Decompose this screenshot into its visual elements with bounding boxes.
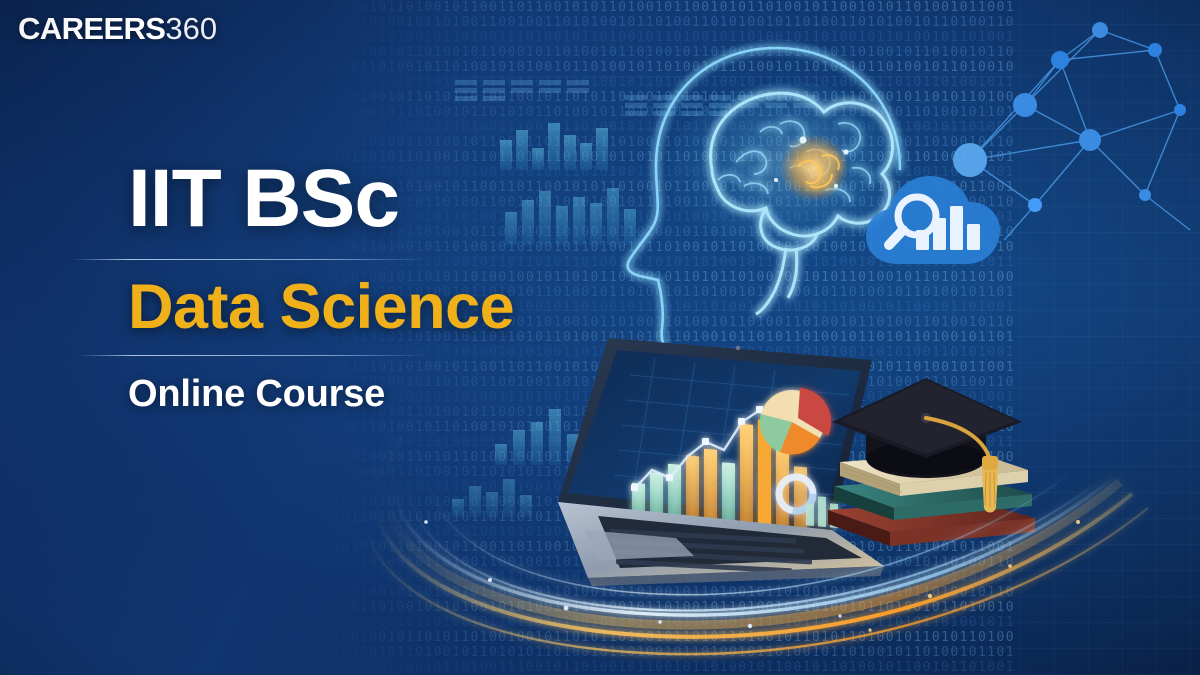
divider-bottom (78, 355, 426, 356)
light-streak-arcs (330, 390, 1160, 675)
logo-careers-text: CAREERS (18, 11, 165, 46)
headline-block: IIT BSc Data Science Online Course (128, 158, 568, 413)
cloud-analytics-icon (862, 168, 1022, 288)
background-data-table (455, 80, 605, 101)
headline-line-3: Online Course (128, 375, 568, 413)
careers360-logo[interactable]: CAREERS360 (18, 13, 217, 44)
logo-360-text: 360 (165, 11, 217, 46)
promo-banner: 1011001010110100101100101011010010110010… (0, 0, 1200, 675)
headline-line-2: Data Science (128, 276, 568, 339)
divider-top (72, 259, 428, 260)
headline-line-1: IIT BSc (128, 158, 568, 240)
